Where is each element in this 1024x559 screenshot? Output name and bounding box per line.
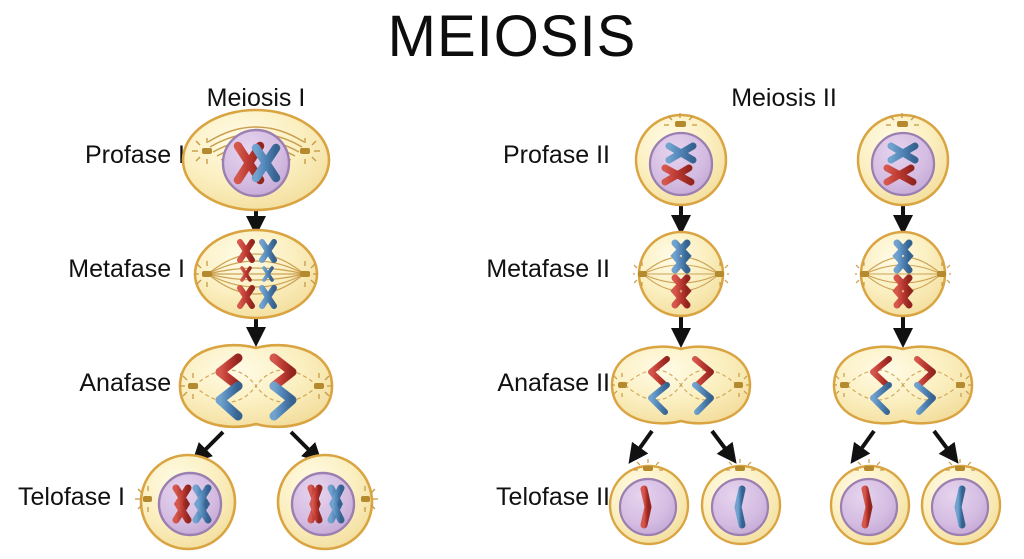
row-label-telofase-2: Telofase II [420, 483, 610, 512]
metafase-2-cell-left [633, 230, 729, 318]
row-label-telofase-1: Telofase I [0, 483, 125, 512]
row-label-profase-1: Profase I [10, 141, 185, 170]
arrow-anafase2-telofase2-d [934, 431, 955, 459]
chromosome-blue-i [958, 489, 962, 525]
row-label-metafase-1: Metafase I [10, 255, 185, 284]
telofase-1-cell-right [269, 452, 381, 552]
arrow-anafase2-telofase2-c [854, 431, 874, 459]
column-header-meiosis-2: Meiosis II [704, 84, 864, 113]
row-label-anafase-2: Anafase II [430, 369, 610, 398]
metafase-1-cell [192, 228, 320, 320]
anafase-1-cell [172, 340, 340, 432]
row-label-profase-2: Profase II [430, 141, 610, 170]
chromosome-red-i [644, 489, 648, 525]
arrow-anafase2-telofase2-a [632, 431, 652, 459]
metafase-2-cell-right [855, 230, 951, 318]
meiosis-diagram: MEIOSIS Meiosis I Meiosis II Profase I M… [0, 0, 1024, 559]
telofase-2-cell-1 [606, 459, 692, 547]
chromosome-blue-i [738, 489, 742, 525]
row-label-anafase-1: Anafase I [10, 369, 185, 398]
profase-2-cell-left [631, 112, 731, 208]
chromosome-red-x [311, 488, 319, 520]
row-label-metafase-2: Metafase II [420, 255, 610, 284]
page-title: MEIOSIS [0, 6, 1024, 68]
chromosome-blue-x [331, 488, 341, 520]
telofase-2-cell-2 [698, 459, 784, 547]
telofase-2-cell-3 [827, 459, 913, 547]
nucleus [650, 133, 712, 195]
arrow-anafase2-telofase2-b [712, 431, 733, 459]
profase-1-cell [180, 108, 332, 212]
chromosome-red-i [865, 489, 869, 525]
telofase-2-cell-4 [918, 459, 1004, 547]
profase-2-cell-right [853, 112, 953, 208]
anafase-2-cell-left [605, 342, 757, 428]
nucleus [872, 133, 934, 195]
nucleus [292, 473, 354, 535]
nucleus [223, 130, 289, 196]
chromosome-blue-x [196, 488, 208, 520]
telofase-1-cell-left [132, 452, 244, 552]
chromosome-red-x [176, 488, 188, 520]
anafase-2-cell-right [827, 342, 979, 428]
